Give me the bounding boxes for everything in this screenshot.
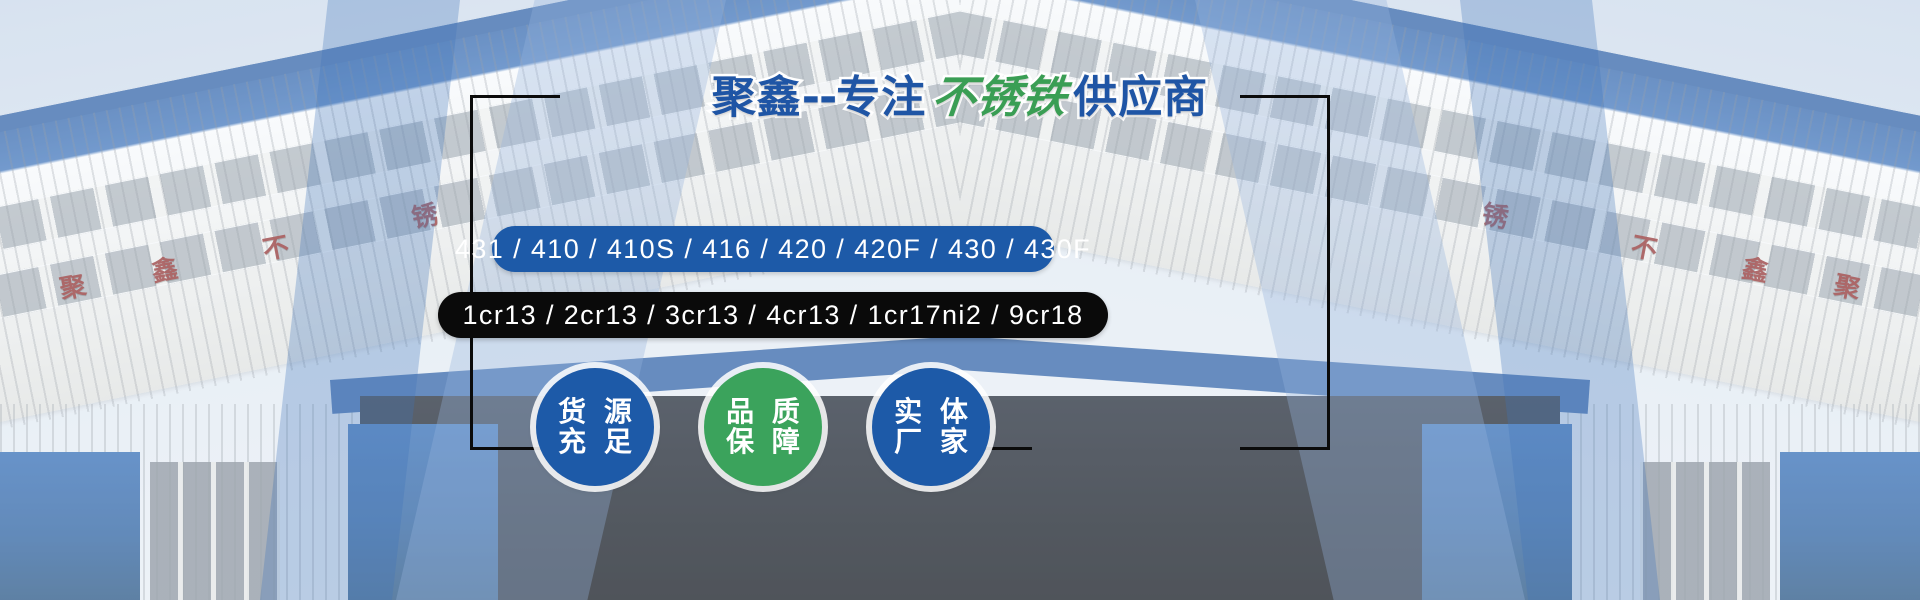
feature-circle-real-factory[interactable]: 实 体 厂 家	[872, 368, 990, 486]
feature-circle-line1: 实 体	[890, 397, 972, 427]
feature-circle-supply-sufficient[interactable]: 货 源 充 足	[536, 368, 654, 486]
feature-circle-line2: 厂 家	[890, 427, 972, 457]
feature-circle-line1: 货 源	[554, 397, 636, 427]
headline-highlight: 不锈铁	[924, 76, 1076, 120]
grade-bar-secondary[interactable]: 1cr13 / 2cr13 / 3cr13 / 4cr13 / 1cr17ni2…	[438, 292, 1108, 338]
headline-brand: 聚鑫	[712, 76, 802, 120]
headline: 聚鑫--专注不锈铁供应商	[0, 74, 1920, 120]
feature-circle-quality-guaranteed[interactable]: 品 质 保 障	[704, 368, 822, 486]
feature-circle-group: 货 源 充 足 品 质 保 障 实 体 厂 家	[470, 368, 1330, 488]
promo-banner: 聚 鑫 不 锈 聚 鑫 不 锈	[0, 0, 1920, 600]
headline-focus: 专注	[836, 76, 926, 120]
feature-circle-line2: 充 足	[554, 427, 636, 457]
feature-circle-line2: 保 障	[722, 427, 804, 457]
headline-supplier: 供应商	[1073, 76, 1208, 120]
grade-bar-primary[interactable]: 431 / 410 / 410S / 416 / 420 / 420F / 43…	[492, 226, 1054, 272]
feature-circle-line1: 品 质	[722, 397, 804, 427]
headline-dash: --	[802, 76, 837, 120]
